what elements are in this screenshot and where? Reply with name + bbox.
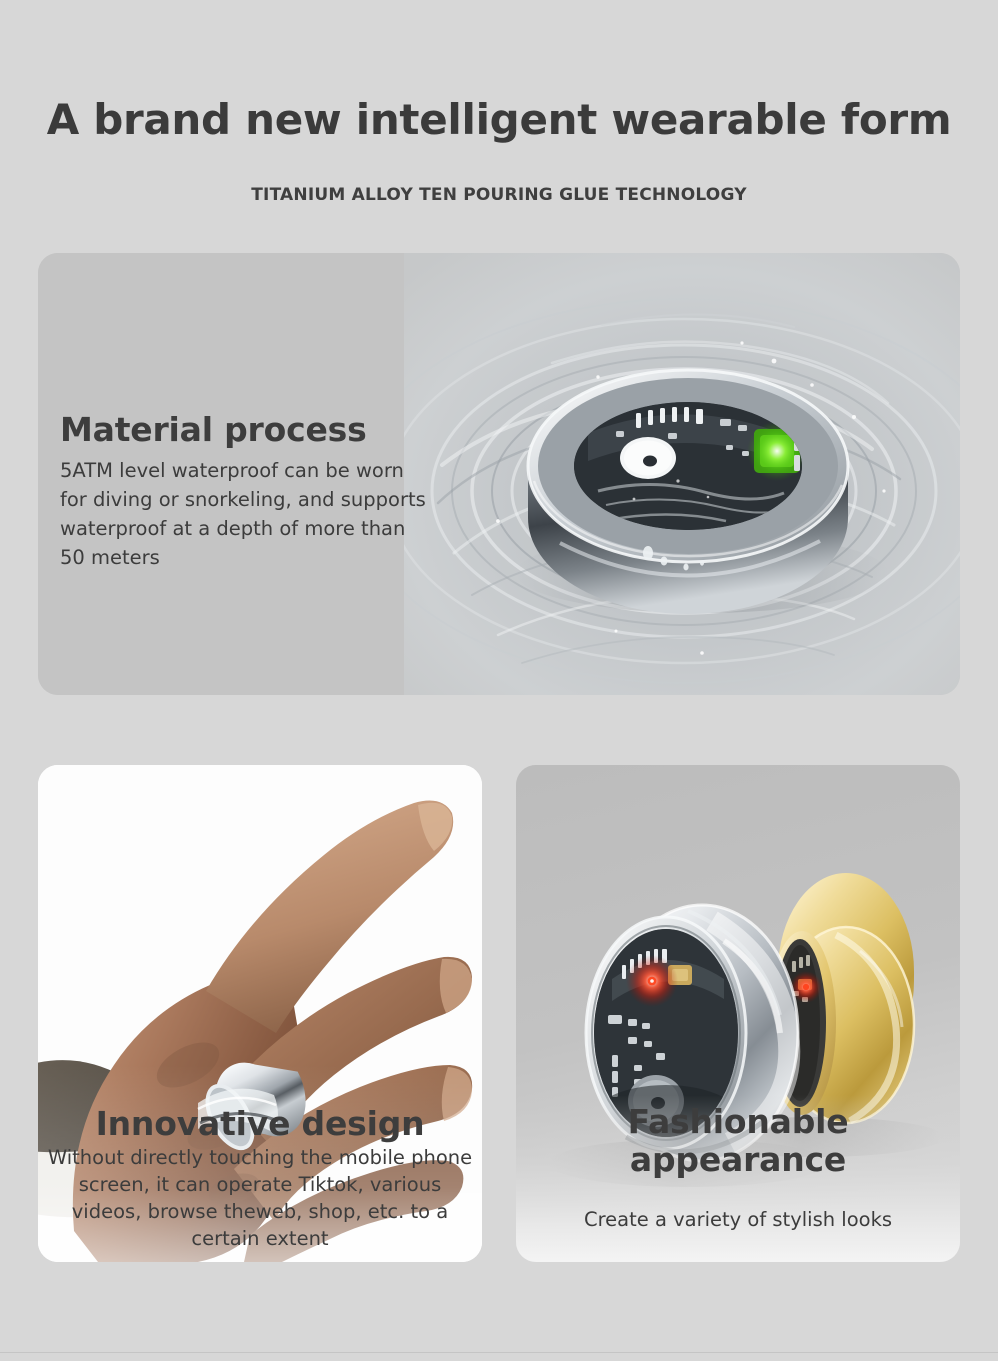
card-heading-innovative-design: Innovative design (46, 1105, 474, 1143)
bottom-divider (0, 1352, 998, 1353)
card-heading-fashionable-appearance: Fashionable appearance (524, 1103, 952, 1179)
water-ripple-illustration (402, 253, 960, 695)
hero-text-block: Material process 5ATM level waterproof c… (60, 411, 430, 572)
card-body-innovative-design: Without directly touching the mobile pho… (46, 1145, 474, 1253)
card-innovative-design[interactable]: Innovative design Without directly touch… (38, 765, 482, 1262)
appearance-text-block: Fashionable appearance Create a variety … (516, 1103, 960, 1234)
feature-cards-container: Material process 5ATM level waterproof c… (38, 253, 960, 695)
bottom-cards-row: Innovative design Without directly touch… (38, 765, 960, 1262)
design-text-block: Innovative design Without directly touch… (38, 1105, 482, 1253)
page-title: A brand new intelligent wearable form (0, 96, 998, 143)
card-heading-material-process: Material process (60, 411, 430, 449)
water-ring-image (402, 253, 960, 695)
card-body-fashionable-appearance: Create a variety of stylish looks (524, 1207, 952, 1234)
smart-ring-waterproof (528, 370, 848, 614)
card-fashionable-appearance[interactable]: Fashionable appearance Create a variety … (516, 765, 960, 1262)
card-body-material-process: 5ATM level waterproof can be worn for di… (60, 457, 430, 572)
page-subtitle: TITANIUM ALLOY TEN POURING GLUE TECHNOLO… (0, 185, 998, 205)
card-material-process[interactable]: Material process 5ATM level waterproof c… (38, 253, 960, 695)
page-header: A brand new intelligent wearable form TI… (0, 0, 998, 205)
